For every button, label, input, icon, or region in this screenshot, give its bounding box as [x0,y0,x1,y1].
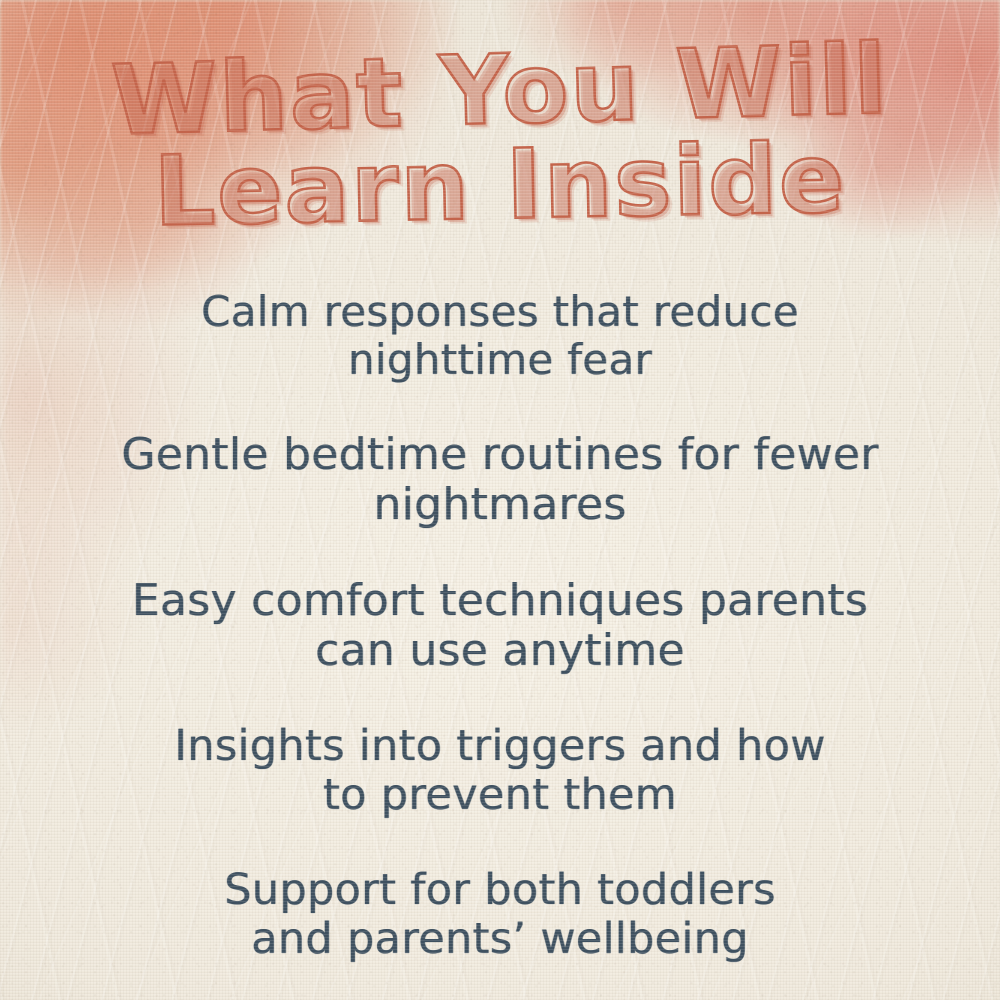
benefit-item: Gentle bedtime routines for fewer nightm… [0,430,1000,530]
benefit-line: to prevent them [0,771,1000,820]
benefit-item: Calm responses that reduce nighttime fea… [0,288,1000,384]
benefit-line: and parents’ wellbeing [0,915,1000,964]
poster-canvas: What You Will Learn Inside Calm response… [0,0,1000,1000]
benefit-item: Insights into triggers and how to preven… [0,722,1000,820]
benefit-line: Insights into triggers and how [0,722,1000,771]
benefit-line: Gentle bedtime routines for fewer [0,430,1000,480]
benefit-item: Easy comfort techniques parents can use … [0,576,1000,676]
benefit-item: Support for both toddlers and parents’ w… [0,866,1000,964]
benefit-line: Easy comfort techniques parents [0,576,1000,626]
benefit-line: nightmares [0,480,1000,530]
benefit-line: can use anytime [0,626,1000,676]
benefit-line: nighttime fear [0,336,1000,384]
benefit-line: Calm responses that reduce [0,288,1000,336]
benefit-line: Support for both toddlers [0,866,1000,915]
poster-content: What You Will Learn Inside Calm response… [0,0,1000,1000]
title-line-2: Learn Inside [0,130,1000,242]
poster-title: What You Will Learn Inside [0,44,1000,232]
benefits-list: Calm responses that reduce nighttime fea… [0,288,1000,964]
